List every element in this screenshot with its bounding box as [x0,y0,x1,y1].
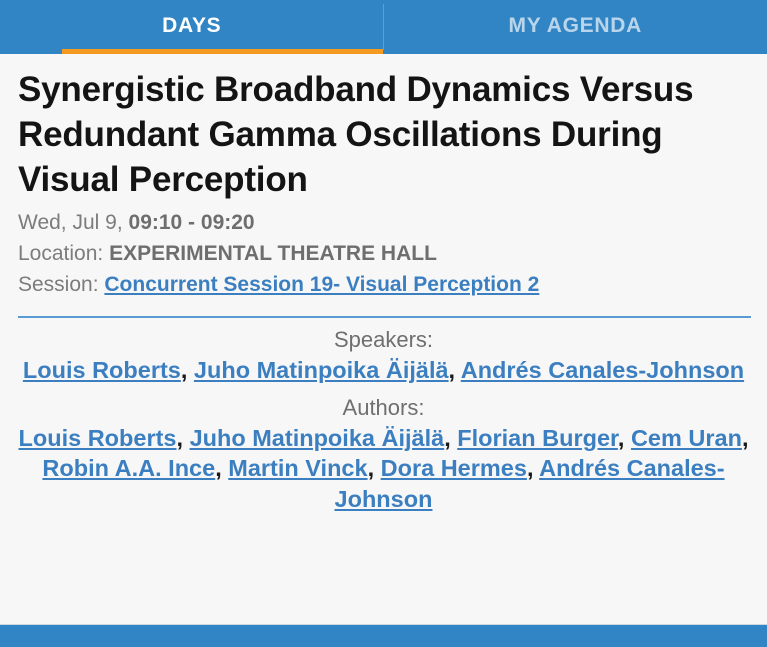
speakers-section: Speakers: Louis Roberts, Juho Matinpoika… [0,327,767,386]
list-separator: , [742,425,749,451]
session-content: Synergistic Broadband Dynamics Versus Re… [0,54,767,624]
person-link[interactable]: Martin Vinck [228,455,367,481]
session-link[interactable]: Concurrent Session 19- Visual Perception… [104,273,539,296]
speakers-heading: Speakers: [12,327,755,353]
section-divider [18,316,751,318]
person-link[interactable]: Cem Uran [631,425,742,451]
session-date: Wed, Jul 9, [18,211,123,234]
session-detail-screen: DAYS MY AGENDA Synergistic Broadband Dyn… [0,0,767,647]
speakers-list: Louis Roberts, Juho Matinpoika Äijälä, A… [12,355,755,386]
session-detail-block: Synergistic Broadband Dynamics Versus Re… [0,54,767,318]
person-link[interactable]: Dora Hermes [381,455,527,481]
person-link[interactable]: Florian Burger [457,425,618,451]
session-datetime-row: Wed, Jul 9, 09:10 - 09:20 [18,208,751,238]
person-link[interactable]: Robin A.A. Ince [42,455,215,481]
person-link[interactable]: Juho Matinpoika Äijälä [190,425,445,451]
list-separator: , [527,455,539,481]
tab-days-label: DAYS [162,14,221,40]
bottom-bar [0,624,767,647]
person-link[interactable]: Andrés Canales-Johnson [461,357,744,383]
session-time: 09:10 - 09:20 [129,211,255,234]
list-separator: , [618,425,631,451]
authors-heading: Authors: [12,395,755,421]
list-separator: , [444,425,457,451]
list-separator: , [181,357,194,383]
session-location-row: Location: EXPERIMENTAL THEATRE HALL [18,239,751,269]
list-separator: , [177,425,190,451]
location-label: Location: [18,242,103,265]
list-separator: , [368,455,381,481]
page-title: Synergistic Broadband Dynamics Versus Re… [18,68,751,202]
tab-my-agenda-label: MY AGENDA [509,14,642,40]
list-separator: , [215,455,228,481]
person-link[interactable]: Louis Roberts [23,357,181,383]
session-parent-row: Session: Concurrent Session 19- Visual P… [18,270,751,300]
person-link[interactable]: Juho Matinpoika Äijälä [194,357,449,383]
tab-days[interactable]: DAYS [0,0,384,54]
list-separator: , [449,357,461,383]
tab-bar: DAYS MY AGENDA [0,0,767,54]
session-label: Session: [18,273,99,296]
location-value: EXPERIMENTAL THEATRE HALL [109,242,437,265]
tab-divider [383,4,384,50]
authors-list: Louis Roberts, Juho Matinpoika Äijälä, F… [12,423,755,515]
authors-section: Authors: Louis Roberts, Juho Matinpoika … [0,395,767,515]
person-link[interactable]: Louis Roberts [19,425,177,451]
tab-my-agenda[interactable]: MY AGENDA [384,0,767,54]
